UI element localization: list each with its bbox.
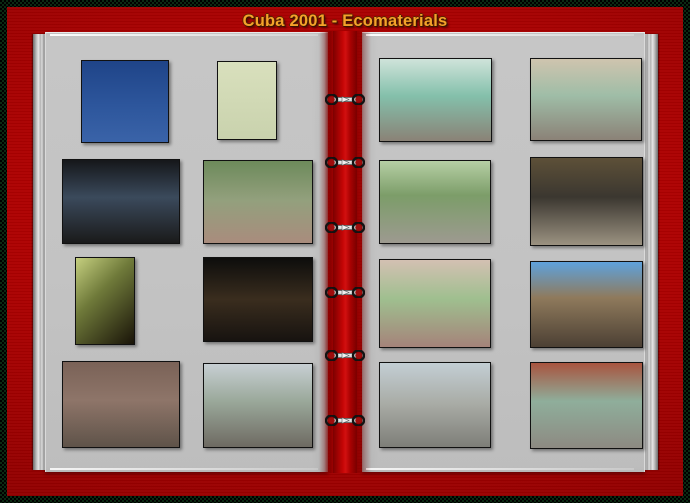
title-bar: Cuba 2001 - Ecomaterials	[7, 7, 683, 35]
photo-image	[531, 262, 642, 347]
photo-image	[380, 363, 490, 447]
binding-ring-icon	[325, 350, 365, 361]
photo-green-columns-night[interactable]	[75, 257, 135, 345]
photo-doorway-interior[interactable]	[217, 61, 277, 140]
binding-ring-icon	[325, 222, 365, 233]
photo-palm-tree[interactable]	[81, 60, 169, 143]
photo-street-from-vehicle[interactable]	[62, 159, 180, 244]
photo-park-benches[interactable]	[379, 160, 491, 244]
photo-image	[531, 59, 641, 140]
binding-ring-icon	[325, 157, 365, 168]
photo-image	[204, 258, 312, 341]
page-title: Cuba 2001 - Ecomaterials	[243, 12, 448, 31]
binding-ring-icon	[325, 415, 365, 426]
album-background: Cuba 2001 - Ecomaterials	[7, 7, 683, 496]
binding-ring-1	[325, 92, 365, 103]
album-page-right[interactable]	[362, 32, 645, 472]
album-page-left[interactable]	[45, 32, 328, 472]
photo-image	[63, 160, 179, 243]
photo-image	[204, 161, 312, 243]
binding-ring-3	[325, 220, 365, 231]
photo-plaza-with-trees[interactable]	[203, 160, 313, 244]
photo-motorcycle[interactable]	[530, 157, 643, 246]
photo-image	[531, 363, 642, 448]
photo-album	[45, 32, 645, 472]
photo-image	[82, 61, 168, 142]
photo-colonial-street-1[interactable]	[203, 363, 313, 448]
binding-ring-2	[325, 155, 365, 166]
binding-ring-4	[325, 285, 365, 296]
album-frame: Cuba 2001 - Ecomaterials	[0, 0, 690, 503]
photo-people-on-porch[interactable]	[379, 259, 491, 348]
photo-image	[380, 59, 491, 141]
photo-children-on-curb[interactable]	[530, 362, 643, 449]
binding-ring-6	[325, 413, 365, 424]
photo-horse-carriage-street[interactable]	[379, 58, 492, 142]
photo-image	[531, 158, 642, 245]
photo-image	[204, 364, 312, 447]
photo-pastel-street-walkers[interactable]	[530, 58, 642, 141]
photo-image	[380, 260, 490, 347]
binding-ring-icon	[325, 94, 365, 105]
photo-colonial-street-2[interactable]	[379, 362, 491, 448]
photo-outdoor-cafe-night[interactable]	[203, 257, 313, 342]
page-edge-stack-right	[644, 34, 658, 470]
photo-image	[63, 362, 179, 447]
binding-ring-5	[325, 348, 365, 359]
photo-image	[76, 258, 134, 344]
photo-image	[218, 62, 276, 139]
photo-fort-tower[interactable]	[530, 261, 643, 348]
binding-ring-icon	[325, 287, 365, 298]
photo-image	[380, 161, 490, 243]
photo-vintage-blue-car[interactable]	[62, 361, 180, 448]
